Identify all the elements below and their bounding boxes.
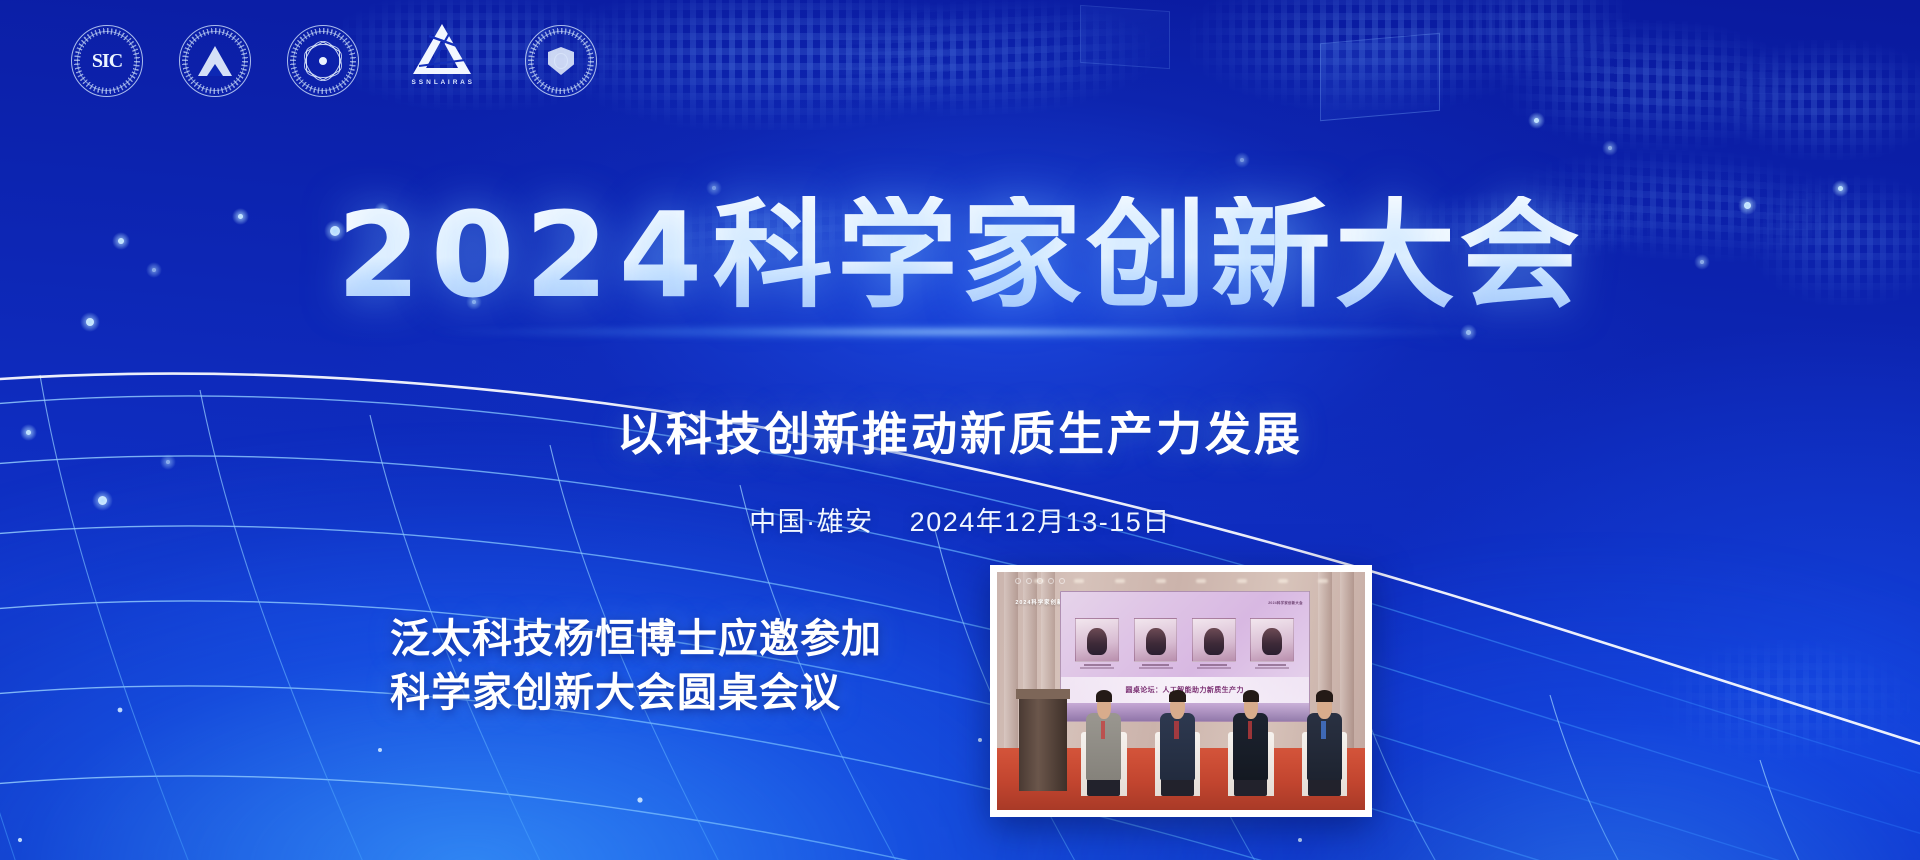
caption-line-1: 泛太科技杨恒博士应邀参加 [390,612,820,666]
delta-triangle-icon [411,22,473,76]
speaker-portrait [1075,618,1119,680]
panelist-row [1078,686,1350,795]
shield-seal-logo[interactable] [524,24,598,98]
banner-subtitle: 以科技创新推动新质生产力发展 [0,398,1920,464]
speaker-portrait-row [1075,618,1293,680]
digital-bar-cluster [1460,0,1630,80]
triangle-seal-logo[interactable] [178,24,252,98]
light-particle [1240,158,1244,162]
banner-dateline: 中国·雄安 2024年12月13-15日 [0,500,1920,539]
panelist [1299,686,1351,795]
light-particle [1608,146,1612,150]
title-year: 2024 [337,186,713,324]
speaker-portrait [1134,618,1178,680]
title-underglow [420,324,1500,340]
seal-ring-text [71,25,143,97]
digital-bar-cluster [1190,0,1550,110]
caption-line-2: 科学家创新大会圆桌会议 [390,666,820,720]
seal-ring: SIC [71,25,143,97]
banner-title: 2024科学家创新大会 [337,196,1584,314]
digital-bar-cluster [1720,40,1920,160]
ceiling-lights [1034,579,1328,585]
tech-panel-shape [1080,5,1170,69]
speaker-portrait [1250,618,1294,680]
photo-content: 2024科学家创新大会 2024科学家创新大会 圆桌论坛：人工智能助力新质生产力 [997,572,1365,810]
triangle-icon [198,46,232,76]
digital-bar-cluster [820,0,1150,121]
speaker-portrait [1192,618,1236,680]
caption-block: 泛太科技杨恒博士应邀参加 科学家创新大会圆桌会议 [390,612,820,720]
light-particle [1534,118,1539,123]
logo-strip: SIC [70,22,598,100]
panelist [1225,686,1277,795]
seal-ring [525,25,597,97]
seal-ring [179,25,251,97]
light-particle [1838,186,1843,191]
sic-seal-logo[interactable]: SIC [70,24,144,98]
shield-icon [548,47,574,75]
light-particle [1466,330,1471,335]
stage-logo-strip [1015,578,1065,584]
delta-wordmark-logo[interactable]: S S N L A I R A S [394,22,490,100]
event-location: 中国·雄安 [749,507,874,537]
seal-ring [287,25,359,97]
panelist [1151,686,1203,795]
panelist [1078,686,1130,795]
network-mesh-graphic [0,280,1920,860]
light-particle [86,318,94,326]
screen-header: 2024科学家创新大会 [1061,592,1309,613]
digital-bar-cluster [560,0,980,130]
banner-stage: SIC [0,0,1920,860]
podium [1019,696,1067,791]
screen-header-text: 2024科学家创新大会 [1268,600,1303,605]
digital-bar-cluster [1660,640,1910,760]
tech-panel-shape [1320,33,1440,121]
banner-title-block: 2024科学家创新大会 [0,196,1920,314]
digital-bar-cluster [1500,15,1800,155]
roundtable-panel-photo[interactable]: 2024科学家创新大会 2024科学家创新大会 圆桌论坛：人工智能助力新质生产力 [990,565,1372,817]
event-dates: 2024年12月13-15日 [910,507,1171,537]
atom-seal-logo[interactable] [286,24,360,98]
title-main: 科学家创新大会 [712,186,1583,324]
atom-icon [306,44,340,78]
delta-wordmark-text: S S N L A I R A S [411,79,472,86]
